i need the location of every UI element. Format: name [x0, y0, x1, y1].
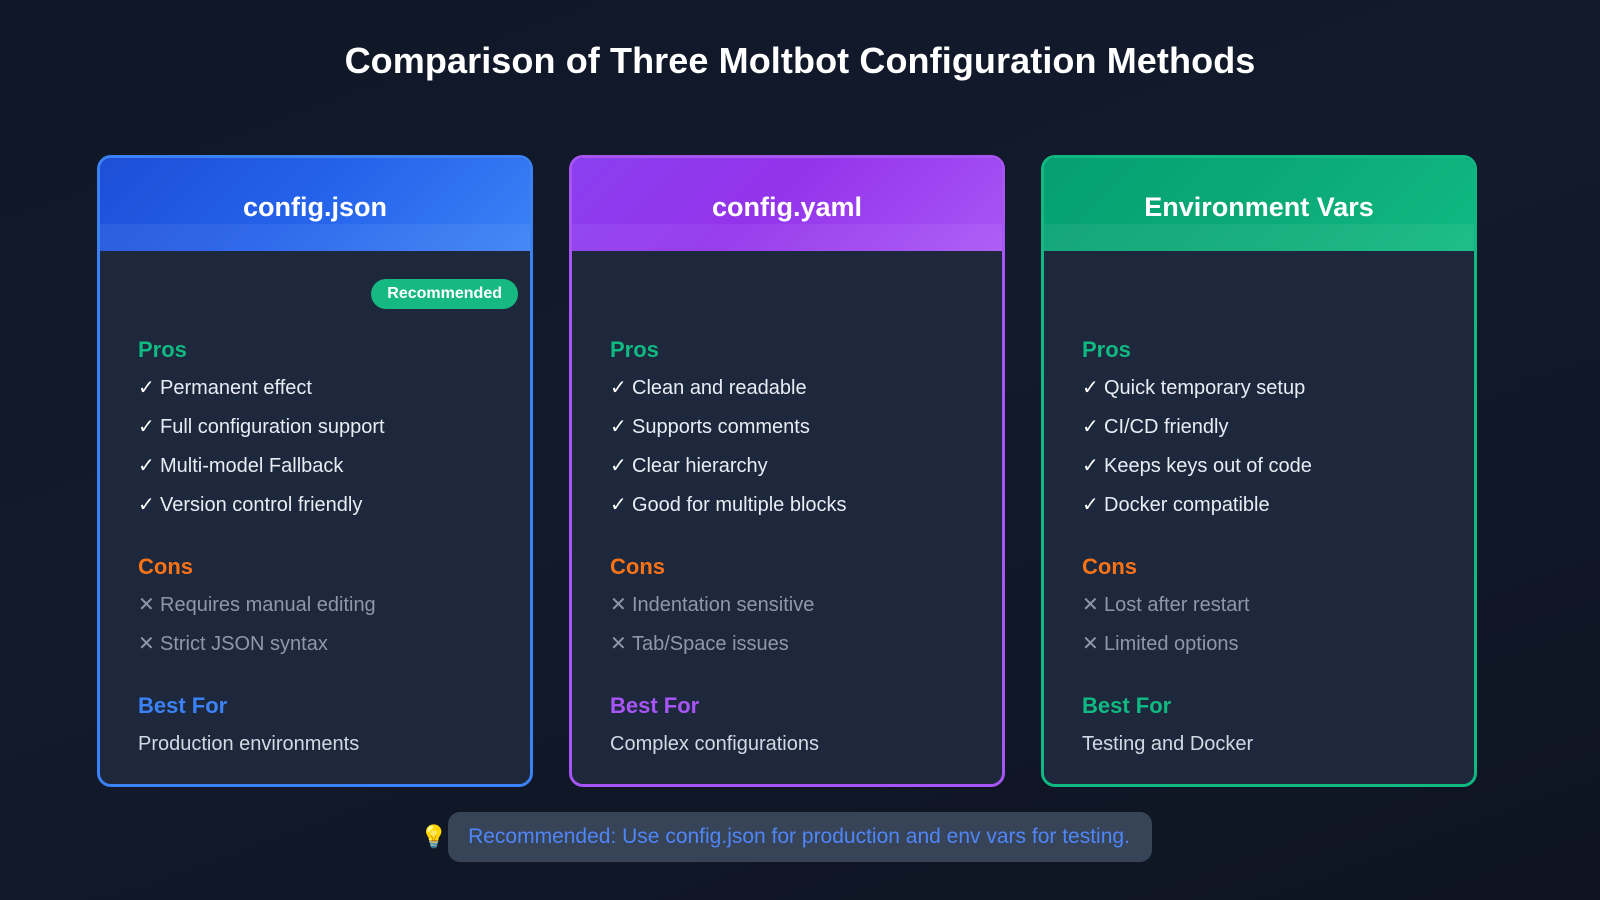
card-body: Recommended Pros ✓ Permanent effect ✓ Fu… [100, 251, 530, 784]
cons-heading: Cons [610, 556, 966, 578]
best-for-text: Complex configurations [610, 734, 966, 754]
list-item-label: Tab/Space issues [632, 634, 789, 654]
cons-list: ✕ Lost after restart ✕ Limited options [1082, 595, 1438, 654]
spacer [610, 673, 966, 695]
list-item: ✕ Tab/Space issues [610, 634, 966, 654]
best-for-text: Production environments [138, 734, 494, 754]
pros-heading: Pros [138, 339, 494, 361]
badge-row [610, 277, 966, 339]
list-item: ✓ Quick temporary setup [1082, 378, 1438, 398]
check-icon: ✓ [610, 417, 632, 437]
list-item-label: Permanent effect [160, 378, 312, 398]
list-item-label: Indentation sensitive [632, 595, 814, 615]
list-item-label: Good for multiple blocks [632, 495, 847, 515]
best-for-heading: Best For [610, 695, 966, 717]
list-item: ✓ Multi-model Fallback [138, 456, 494, 476]
card-config-json[interactable]: config.json Recommended Pros ✓ Permanent… [97, 155, 533, 787]
badge-row: Recommended [138, 277, 494, 339]
spacer [138, 534, 494, 556]
check-icon: ✓ [1082, 456, 1104, 476]
cross-icon: ✕ [610, 634, 632, 654]
list-item: ✕ Lost after restart [1082, 595, 1438, 615]
card-environment-vars[interactable]: Environment Vars Pros ✓ Quick temporary … [1041, 155, 1477, 787]
list-item: ✓ Full configuration support [138, 417, 494, 437]
card-title: Environment Vars [1144, 194, 1374, 221]
list-item-label: Clean and readable [632, 378, 807, 398]
card-header: config.json [100, 158, 530, 251]
card-title: config.json [243, 194, 387, 221]
spacer [610, 534, 966, 556]
list-item-label: Strict JSON syntax [160, 634, 328, 654]
footer-inner: 💡 Recommended: Use config.json for produ… [448, 812, 1152, 862]
check-icon: ✓ [1082, 417, 1104, 437]
list-item: ✓ Permanent effect [138, 378, 494, 398]
cons-heading: Cons [138, 556, 494, 578]
list-item: ✓ Docker compatible [1082, 495, 1438, 515]
list-item-label: CI/CD friendly [1104, 417, 1228, 437]
check-icon: ✓ [610, 495, 632, 515]
card-header: config.yaml [572, 158, 1002, 251]
footer-note: 💡 Recommended: Use config.json for produ… [0, 812, 1600, 862]
check-icon: ✓ [138, 495, 160, 515]
check-icon: ✓ [1082, 378, 1104, 398]
lightbulb-icon: 💡 [420, 826, 447, 848]
list-item: ✓ Version control friendly [138, 495, 494, 515]
list-item: ✓ Clean and readable [610, 378, 966, 398]
list-item: ✓ Supports comments [610, 417, 966, 437]
list-item-label: Multi-model Fallback [160, 456, 343, 476]
cross-icon: ✕ [610, 595, 632, 615]
pros-list: ✓ Quick temporary setup ✓ CI/CD friendly… [1082, 378, 1438, 515]
check-icon: ✓ [138, 417, 160, 437]
check-icon: ✓ [610, 378, 632, 398]
list-item-label: Keeps keys out of code [1104, 456, 1312, 476]
check-icon: ✓ [1082, 495, 1104, 515]
cons-list: ✕ Requires manual editing ✕ Strict JSON … [138, 595, 494, 654]
pros-heading: Pros [610, 339, 966, 361]
list-item: ✕ Requires manual editing [138, 595, 494, 615]
pros-list: ✓ Clean and readable ✓ Supports comments… [610, 378, 966, 515]
status-badge: Recommended [371, 279, 518, 309]
comparison-cards-row: config.json Recommended Pros ✓ Permanent… [97, 155, 1477, 787]
card-title: config.yaml [712, 194, 862, 221]
spacer [1082, 534, 1438, 556]
check-icon: ✓ [138, 456, 160, 476]
list-item-label: Requires manual editing [160, 595, 376, 615]
list-item: ✓ CI/CD friendly [1082, 417, 1438, 437]
page-title: Comparison of Three Moltbot Configuratio… [0, 40, 1600, 82]
list-item: ✕ Indentation sensitive [610, 595, 966, 615]
cross-icon: ✕ [138, 595, 160, 615]
list-item: ✓ Good for multiple blocks [610, 495, 966, 515]
check-icon: ✓ [610, 456, 632, 476]
badge-row [1082, 277, 1438, 339]
list-item: ✓ Clear hierarchy [610, 456, 966, 476]
list-item: ✕ Limited options [1082, 634, 1438, 654]
list-item-label: Clear hierarchy [632, 456, 768, 476]
card-config-yaml[interactable]: config.yaml Pros ✓ Clean and readable ✓ … [569, 155, 1005, 787]
cross-icon: ✕ [138, 634, 160, 654]
cross-icon: ✕ [1082, 634, 1104, 654]
card-header: Environment Vars [1044, 158, 1474, 251]
list-item-label: Version control friendly [160, 495, 362, 515]
list-item-label: Quick temporary setup [1104, 378, 1305, 398]
card-body: Pros ✓ Clean and readable ✓ Supports com… [572, 251, 1002, 784]
list-item-label: Lost after restart [1104, 595, 1250, 615]
recommendation-text: Recommended: Use config.json for product… [448, 812, 1152, 862]
cons-heading: Cons [1082, 556, 1438, 578]
list-item-label: Limited options [1104, 634, 1239, 654]
card-body: Pros ✓ Quick temporary setup ✓ CI/CD fri… [1044, 251, 1474, 784]
best-for-heading: Best For [138, 695, 494, 717]
list-item-label: Docker compatible [1104, 495, 1270, 515]
best-for-text: Testing and Docker [1082, 734, 1438, 754]
best-for-heading: Best For [1082, 695, 1438, 717]
cross-icon: ✕ [1082, 595, 1104, 615]
pros-heading: Pros [1082, 339, 1438, 361]
pros-list: ✓ Permanent effect ✓ Full configuration … [138, 378, 494, 515]
spacer [1082, 673, 1438, 695]
spacer [138, 673, 494, 695]
list-item: ✓ Keeps keys out of code [1082, 456, 1438, 476]
list-item-label: Full configuration support [160, 417, 385, 437]
list-item: ✕ Strict JSON syntax [138, 634, 494, 654]
check-icon: ✓ [138, 378, 160, 398]
list-item-label: Supports comments [632, 417, 810, 437]
cons-list: ✕ Indentation sensitive ✕ Tab/Space issu… [610, 595, 966, 654]
